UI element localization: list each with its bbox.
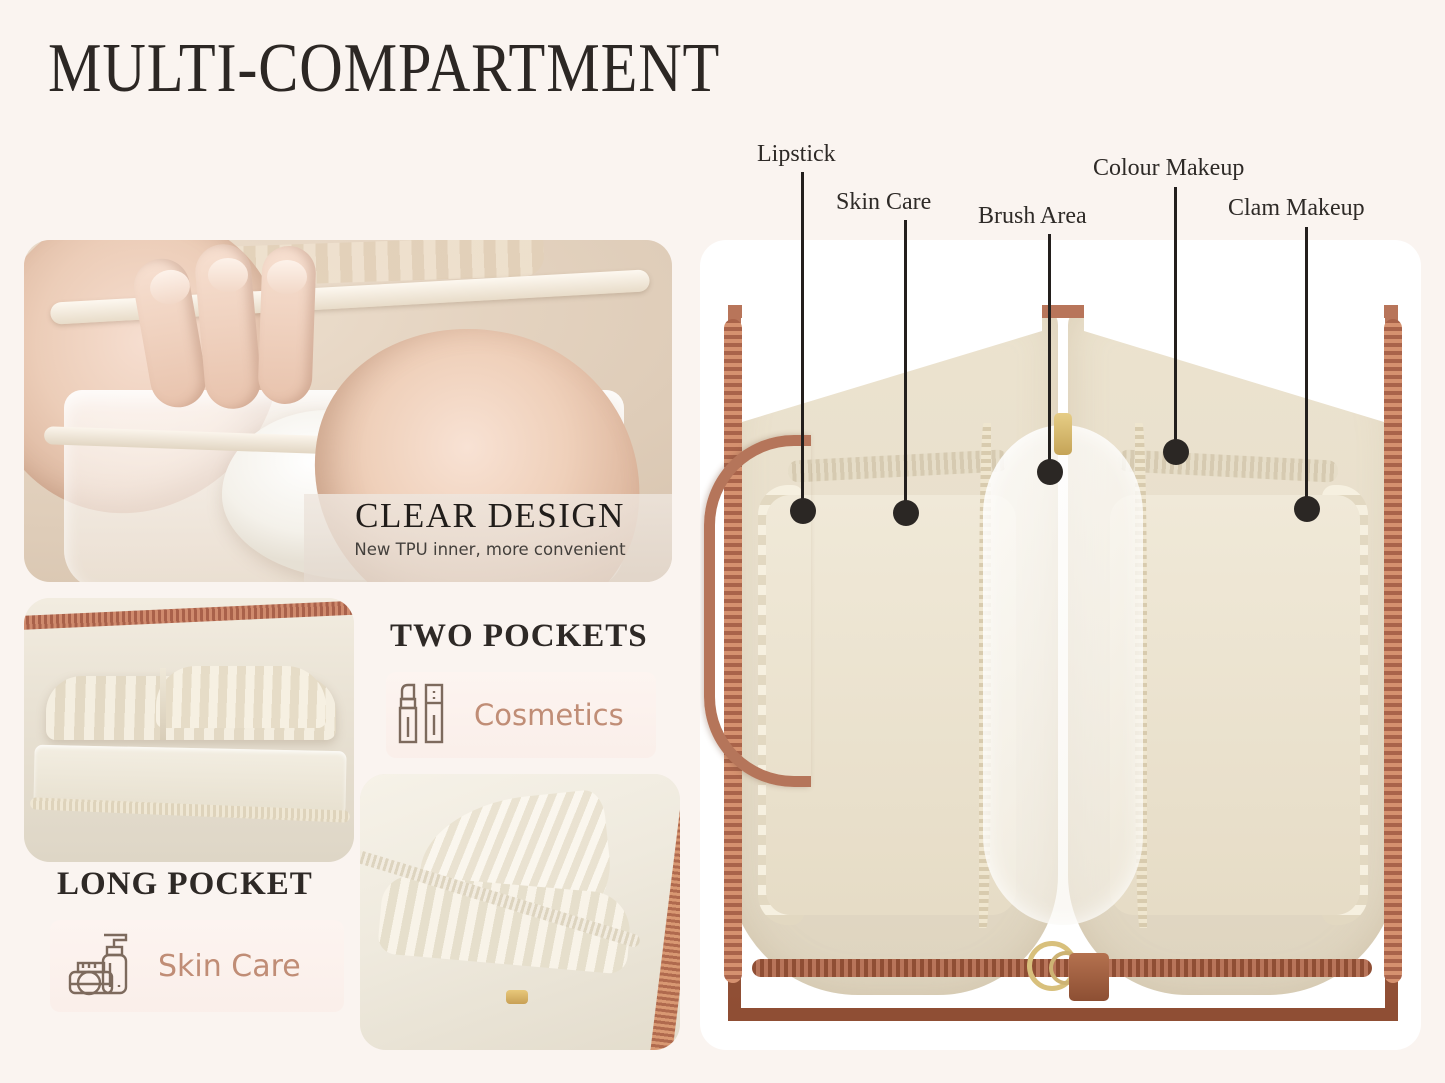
- two-pockets-card: Cosmetics: [386, 672, 656, 758]
- annotation-label-brush-area: Brush Area: [978, 203, 1087, 230]
- leader-line-colour-makeup: [1174, 187, 1177, 443]
- two-pockets-heading: TWO POCKETS: [390, 618, 648, 655]
- clear-design-caption: CLEAR DESIGN New TPU inner, more conveni…: [304, 494, 672, 582]
- main-product-card: [700, 240, 1421, 1050]
- clear-design-heading: CLEAR DESIGN: [320, 496, 660, 536]
- leader-line-skin-care: [904, 220, 907, 504]
- lipstick-icon: [394, 677, 456, 754]
- inner-pocket-image: [360, 774, 680, 1050]
- annotation-label-skin-care: Skin Care: [836, 189, 931, 216]
- annotation-dot-lipstick: [790, 498, 816, 524]
- page-title: MULTI-COMPARTMENT: [48, 34, 720, 104]
- photo-inner-pocket: [360, 774, 680, 1050]
- annotation-dot-clam-makeup: [1294, 496, 1320, 522]
- infographic-stage: MULTI-COMPARTMENT CLEAR DESIGN New TPU i…: [0, 0, 1445, 1083]
- clear-design-subheading: New TPU inner, more convenient: [314, 540, 666, 559]
- annotation-dot-skin-care: [893, 500, 919, 526]
- annotation-dot-brush-area: [1037, 459, 1063, 485]
- leader-line-lipstick: [801, 172, 804, 505]
- two-pockets-label: Cosmetics: [474, 698, 624, 732]
- long-pocket-image: [24, 598, 354, 862]
- photo-long-pocket: [24, 598, 354, 862]
- annotation-label-clam-makeup: Clam Makeup: [1228, 195, 1365, 222]
- annotation-label-lipstick: Lipstick: [757, 141, 836, 168]
- skincare-bottle-icon: [62, 927, 140, 1006]
- long-pocket-label: Skin Care: [158, 949, 301, 984]
- annotation-label-colour-makeup: Colour Makeup: [1093, 155, 1244, 182]
- leader-line-clam-makeup: [1305, 227, 1308, 502]
- long-pocket-heading: LONG POCKET: [57, 866, 313, 903]
- leader-line-brush-area: [1048, 234, 1051, 466]
- long-pocket-card: Skin Care: [50, 920, 344, 1012]
- annotation-dot-colour-makeup: [1163, 439, 1189, 465]
